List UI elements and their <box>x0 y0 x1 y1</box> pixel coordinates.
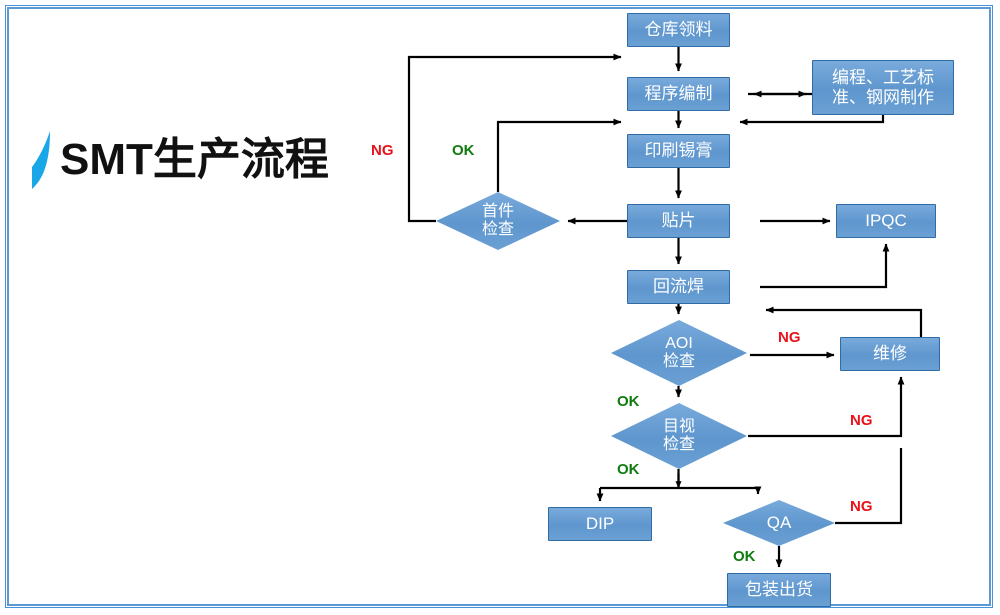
node-program-label: 程序编制 <box>645 84 713 104</box>
edge-label-aoi-ok: OK <box>617 393 640 410</box>
node-warehouse[interactable]: 仓库领料 <box>627 13 730 47</box>
node-shipping-label: 包装出货 <box>745 580 813 600</box>
node-solder-paste-label: 印刷锡膏 <box>645 141 713 161</box>
node-warehouse-label: 仓库领料 <box>645 20 713 40</box>
node-repair-label: 维修 <box>873 344 907 364</box>
node-aoi[interactable]: AOI 检查 <box>611 320 747 386</box>
node-dip[interactable]: DIP <box>548 507 652 541</box>
node-visual-label-line2: 检查 <box>663 436 695 454</box>
node-ipqc-label: IPQC <box>865 211 907 231</box>
edge-label-aoi-ng: NG <box>778 329 801 346</box>
node-aoi-label-line2: 检查 <box>663 353 695 371</box>
node-ipqc[interactable]: IPQC <box>836 204 936 238</box>
node-smt-place-label: 贴片 <box>662 211 696 231</box>
slide-canvas: SMT生产流程 <box>0 0 1000 615</box>
node-smt-place[interactable]: 贴片 <box>627 204 730 238</box>
edge-label-qa-ok: OK <box>733 548 756 565</box>
edge-label-qa-ng: NG <box>850 498 873 515</box>
edge-label-first-article-ok: OK <box>452 142 475 159</box>
node-visual[interactable]: 目视 检查 <box>611 403 747 469</box>
edge-label-visual-ng: NG <box>850 412 873 429</box>
node-qa[interactable]: QA <box>723 500 835 546</box>
node-qa-label: QA <box>767 513 792 533</box>
node-reflow-label: 回流焊 <box>653 277 704 297</box>
node-first-article[interactable]: 首件 检查 <box>436 192 560 250</box>
node-first-article-label-line2: 检查 <box>482 221 514 239</box>
node-repair[interactable]: 维修 <box>840 337 940 371</box>
node-visual-label-line1: 目视 <box>663 418 695 436</box>
node-standards[interactable]: 编程、工艺标 准、钢网制作 <box>812 60 954 115</box>
node-dip-label: DIP <box>586 514 614 534</box>
node-standards-label-line1: 编程、工艺标 <box>832 68 934 88</box>
edge-label-visual-ok: OK <box>617 461 640 478</box>
node-first-article-label-line1: 首件 <box>482 203 514 221</box>
node-shipping[interactable]: 包装出货 <box>727 573 831 607</box>
node-standards-label-line2: 准、钢网制作 <box>832 88 934 108</box>
node-program[interactable]: 程序编制 <box>627 77 730 111</box>
node-reflow[interactable]: 回流焊 <box>627 270 730 304</box>
node-solder-paste[interactable]: 印刷锡膏 <box>627 134 730 168</box>
edge-label-first-article-ng: NG <box>371 142 394 159</box>
node-aoi-label-line1: AOI <box>665 335 693 353</box>
